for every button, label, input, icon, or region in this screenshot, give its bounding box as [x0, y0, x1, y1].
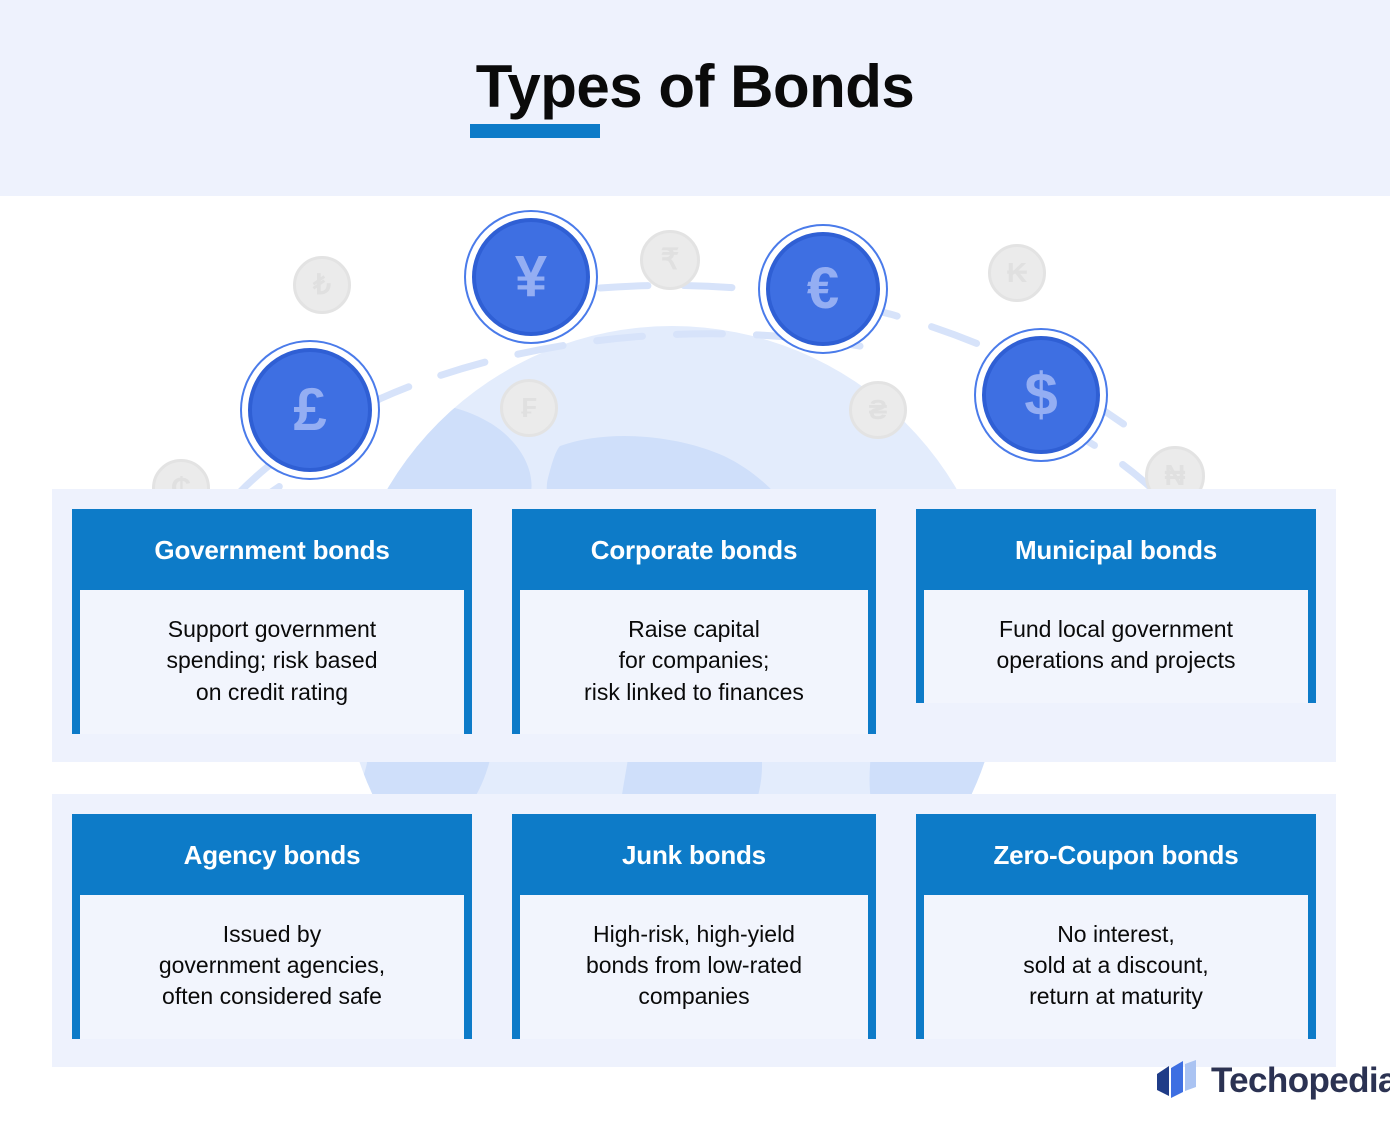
coin-rupee-glyph: ₹ [661, 246, 679, 275]
coin-dollar-glyph: $ [1024, 365, 1057, 425]
coin-kip-icon: ₭ [988, 244, 1046, 302]
coin-euro-icon: € [766, 232, 880, 346]
bond-types-grid: Government bonds Support governmentspend… [52, 489, 1340, 1067]
card-panel-0: Government bonds Support governmentspend… [52, 489, 492, 762]
coin-kip-glyph: ₭ [1007, 259, 1027, 287]
techopedia-wordmark: Techopedia [1211, 1061, 1390, 1101]
coin-rupee-icon: ₹ [640, 230, 700, 290]
card-panel-3: Agency bonds Issued bygovernment agencie… [52, 794, 492, 1067]
card-description: No interest,sold at a discount,return at… [924, 895, 1308, 1039]
coin-yen-icon: ¥ [472, 218, 590, 336]
coin-hryvnia-glyph: ₴ [869, 396, 888, 424]
coin-euro-glyph: € [807, 260, 839, 318]
card-description: Raise capitalfor companies;risk linked t… [520, 590, 868, 734]
card-panel-2: Municipal bonds Fund local governmentope… [896, 489, 1336, 762]
card-title: Corporate bonds [512, 509, 876, 590]
card-government-bonds[interactable]: Government bonds Support governmentspend… [72, 509, 472, 734]
card-title: Municipal bonds [916, 509, 1316, 590]
card-description: High-risk, high-yieldbonds from low-rate… [520, 895, 868, 1039]
techopedia-mark-icon [1155, 1060, 1199, 1102]
coin-lira-icon: ₺ [293, 256, 351, 314]
card-municipal-bonds[interactable]: Municipal bonds Fund local governmentope… [916, 509, 1316, 703]
coin-lira-glyph: ₺ [313, 271, 331, 299]
techopedia-logo[interactable]: Techopedia [1155, 1060, 1390, 1102]
card-title: Zero-Coupon bonds [916, 814, 1316, 895]
page-title: Types of Bonds [0, 52, 1390, 121]
card-panel-1: Corporate bonds Raise capitalfor compani… [492, 489, 896, 762]
card-description: Issued bygovernment agencies,often consi… [80, 895, 464, 1039]
card-junk-bonds[interactable]: Junk bonds High-risk, high-yieldbonds fr… [512, 814, 876, 1039]
title-accent-underline [470, 124, 600, 138]
bond-types-row-2: Agency bonds Issued bygovernment agencie… [52, 794, 1340, 1067]
card-title: Government bonds [72, 509, 472, 590]
card-corporate-bonds[interactable]: Corporate bonds Raise capitalfor compani… [512, 509, 876, 734]
card-description: Support governmentspending; risk basedon… [80, 590, 464, 734]
coin-pound-icon: £ [248, 348, 372, 472]
card-title: Agency bonds [72, 814, 472, 895]
card-panel-5: Zero-Coupon bonds No interest,sold at a … [896, 794, 1336, 1067]
coin-franc-icon: ₣ [500, 379, 558, 437]
coin-franc-glyph: ₣ [521, 394, 537, 422]
card-title: Junk bonds [512, 814, 876, 895]
coin-dollar-icon: $ [982, 336, 1100, 454]
coin-yen-glyph: ¥ [515, 248, 547, 306]
coin-hryvnia-icon: ₴ [849, 381, 907, 439]
bond-types-row-1: Government bonds Support governmentspend… [52, 489, 1340, 762]
coin-pound-glyph: £ [293, 380, 326, 440]
coin-naira-glyph: ₦ [1165, 462, 1186, 491]
card-agency-bonds[interactable]: Agency bonds Issued bygovernment agencie… [72, 814, 472, 1039]
card-zero-coupon-bonds[interactable]: Zero-Coupon bonds No interest,sold at a … [916, 814, 1316, 1039]
card-panel-4: Junk bonds High-risk, high-yieldbonds fr… [492, 794, 896, 1067]
card-description: Fund local governmentoperations and proj… [924, 590, 1308, 703]
